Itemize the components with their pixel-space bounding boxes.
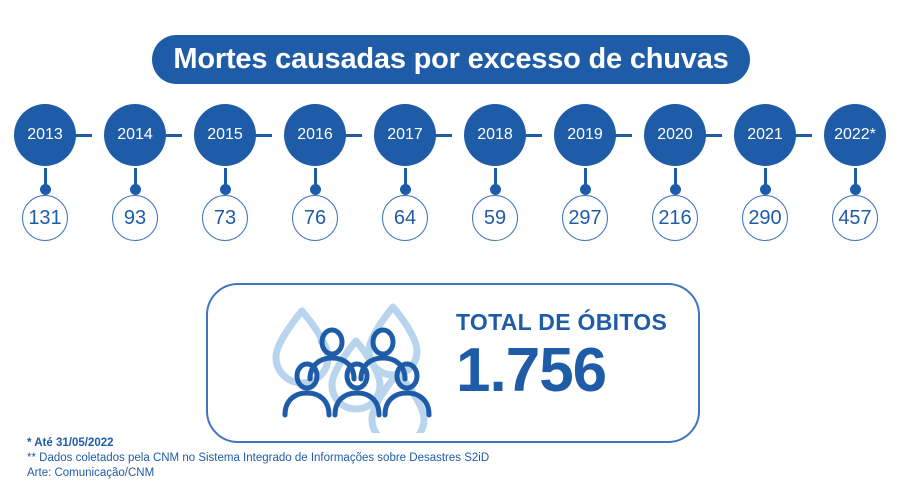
total-deaths-card: TOTAL DE ÓBITOS 1.756 [206, 283, 700, 443]
year-circle[interactable]: 2017 [374, 104, 436, 166]
year-label: 2013 [27, 126, 63, 144]
value-circle[interactable]: 457 [832, 195, 878, 241]
year-circle[interactable]: 2020 [644, 104, 706, 166]
timeline-stem-dot [580, 184, 591, 195]
value-label: 297 [568, 207, 601, 230]
timeline-stem-dot [220, 184, 231, 195]
timeline-stem-dot [490, 184, 501, 195]
year-circle[interactable]: 2019 [554, 104, 616, 166]
value-label: 76 [304, 207, 326, 230]
timeline-stem-dot [850, 184, 861, 195]
value-label: 64 [394, 207, 416, 230]
year-circle[interactable]: 2022* [824, 104, 886, 166]
value-circle[interactable]: 216 [652, 195, 698, 241]
value-label: 290 [748, 207, 781, 230]
timeline-column: 201573 [180, 104, 270, 254]
year-label: 2016 [297, 126, 333, 144]
timeline-column: 2020216 [630, 104, 720, 254]
value-label: 59 [484, 207, 506, 230]
people-water-drops-icon [268, 297, 438, 433]
timeline-column: 2021290 [720, 104, 810, 254]
year-circle[interactable]: 2021 [734, 104, 796, 166]
total-text-block: TOTAL DE ÓBITOS 1.756 [456, 311, 686, 403]
value-label: 73 [214, 207, 236, 230]
value-circle[interactable]: 64 [382, 195, 428, 241]
value-circle[interactable]: 93 [112, 195, 158, 241]
value-circle[interactable]: 59 [472, 195, 518, 241]
page-title: Mortes causadas por excesso de chuvas [173, 43, 728, 76]
year-label: 2022* [834, 126, 876, 144]
timeline-stem-dot [760, 184, 771, 195]
timeline-column: 2013131 [0, 104, 90, 254]
timeline-stem-dot [400, 184, 411, 195]
year-circle[interactable]: 2013 [14, 104, 76, 166]
value-circle[interactable]: 73 [202, 195, 248, 241]
year-label: 2019 [567, 126, 603, 144]
timeline-stem-dot [670, 184, 681, 195]
year-label: 2020 [657, 126, 693, 144]
year-circle[interactable]: 2016 [284, 104, 346, 166]
value-circle[interactable]: 290 [742, 195, 788, 241]
total-number: 1.756 [456, 338, 686, 403]
year-label: 2017 [387, 126, 423, 144]
value-label: 457 [838, 207, 871, 230]
timeline-stem-dot [40, 184, 51, 195]
year-label: 2018 [477, 126, 513, 144]
footnotes: * Até 31/05/2022 ** Dados coletados pela… [27, 436, 647, 481]
timeline-stem-dot [130, 184, 141, 195]
timeline-column: 201676 [270, 104, 360, 254]
timeline-column: 201859 [450, 104, 540, 254]
year-circle[interactable]: 2018 [464, 104, 526, 166]
infographic-title-banner: Mortes causadas por excesso de chuvas [152, 35, 750, 84]
year-circle[interactable]: 2015 [194, 104, 256, 166]
value-label: 93 [124, 207, 146, 230]
footnote-line-1: * Até 31/05/2022 [27, 436, 647, 451]
total-caption: TOTAL DE ÓBITOS [456, 311, 686, 334]
value-circle[interactable]: 76 [292, 195, 338, 241]
year-circle[interactable]: 2014 [104, 104, 166, 166]
value-circle[interactable]: 297 [562, 195, 608, 241]
timeline-stem-dot [310, 184, 321, 195]
value-label: 131 [28, 207, 61, 230]
year-label: 2015 [207, 126, 243, 144]
timeline-column: 201764 [360, 104, 450, 254]
value-label: 216 [658, 207, 691, 230]
timeline-column: 2022*457 [810, 104, 900, 254]
value-circle[interactable]: 131 [22, 195, 68, 241]
year-label: 2021 [747, 126, 783, 144]
footnote-line-3: Arte: Comunicação/CNM [27, 466, 647, 481]
year-label: 2014 [117, 126, 153, 144]
footnote-line-2: ** Dados coletados pela CNM no Sistema I… [27, 451, 647, 466]
timeline: 2013131201493201573201676201764201859201… [0, 104, 900, 254]
timeline-column: 2019297 [540, 104, 630, 254]
timeline-column: 201493 [90, 104, 180, 254]
